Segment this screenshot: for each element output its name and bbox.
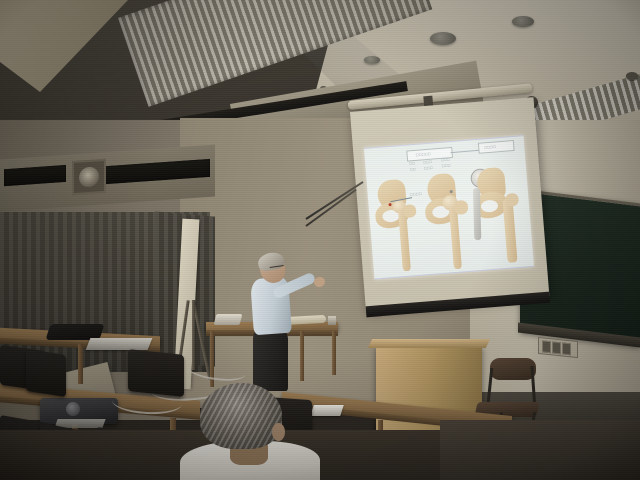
greater-trochanter [505, 193, 519, 207]
table-leg [332, 331, 336, 375]
slide-header-text: □□□□ [484, 145, 496, 149]
podium-top-surface [368, 339, 490, 348]
slide-header-box: □□□□ [478, 140, 515, 154]
femur-shaft [398, 209, 411, 271]
transom-glass-pane [104, 159, 210, 184]
recessed-downlight-icon [512, 16, 534, 27]
recessed-downlight-icon [430, 32, 456, 45]
sprinkler-head-icon [626, 72, 638, 80]
slide-header-row-text: □□□ [441, 158, 450, 162]
slide-header-row-text: □□ [409, 162, 415, 165]
wall-switch[interactable] [552, 341, 561, 354]
white-box-object [310, 405, 344, 416]
slide-callout-label: □□□□ [410, 192, 422, 196]
femoral-stem-implant [473, 188, 481, 240]
attendee-hair [200, 383, 282, 449]
slide-header-row-text: □□□ [423, 161, 432, 165]
wall-switch[interactable] [542, 340, 551, 353]
stacked-chair[interactable] [26, 349, 66, 397]
table-leg [78, 344, 83, 384]
telephone [214, 314, 243, 325]
projector-lens-icon [66, 402, 80, 416]
greater-trochanter [453, 200, 468, 215]
transom-glass-pane [4, 165, 66, 186]
wall-switch[interactable] [562, 342, 571, 355]
femur-shaft [449, 207, 462, 269]
cup [328, 316, 336, 325]
slide-header-text: □□□□□ [416, 153, 431, 157]
fan-blades-icon [79, 166, 99, 187]
femur-shaft [502, 198, 517, 263]
lecture-room-photo: □□□□□ □□□□ □□ □□□ □□□ □□ □□□ □□□ [0, 0, 640, 480]
floor-right [440, 420, 640, 480]
wall-ventilation-fan [72, 159, 106, 195]
stacked-chair[interactable] [128, 349, 184, 397]
recessed-downlight-icon [364, 56, 380, 64]
presenter-person [246, 255, 306, 390]
projected-slide: □□□□□ □□□□ □□ □□□ □□□ □□ □□□ □□□ [364, 135, 534, 279]
presenter-trousers [253, 331, 288, 391]
slide-header-row-text: □□ [410, 168, 416, 171]
slide-divider-rule [451, 150, 479, 153]
greater-trochanter [403, 204, 417, 218]
attendee-person [186, 383, 306, 480]
binder-stack [86, 338, 153, 350]
hip-figure-prosthesis [470, 165, 532, 269]
chair-backrest [490, 358, 536, 380]
slide-header-row-text: □□□ [442, 164, 451, 168]
attendee-ear [272, 423, 285, 441]
projection-screen[interactable]: □□□□□ □□□□ □□ □□□ □□□ □□ □□□ □□□ [350, 97, 549, 311]
slide-header-row-text: □□□ [424, 167, 433, 171]
